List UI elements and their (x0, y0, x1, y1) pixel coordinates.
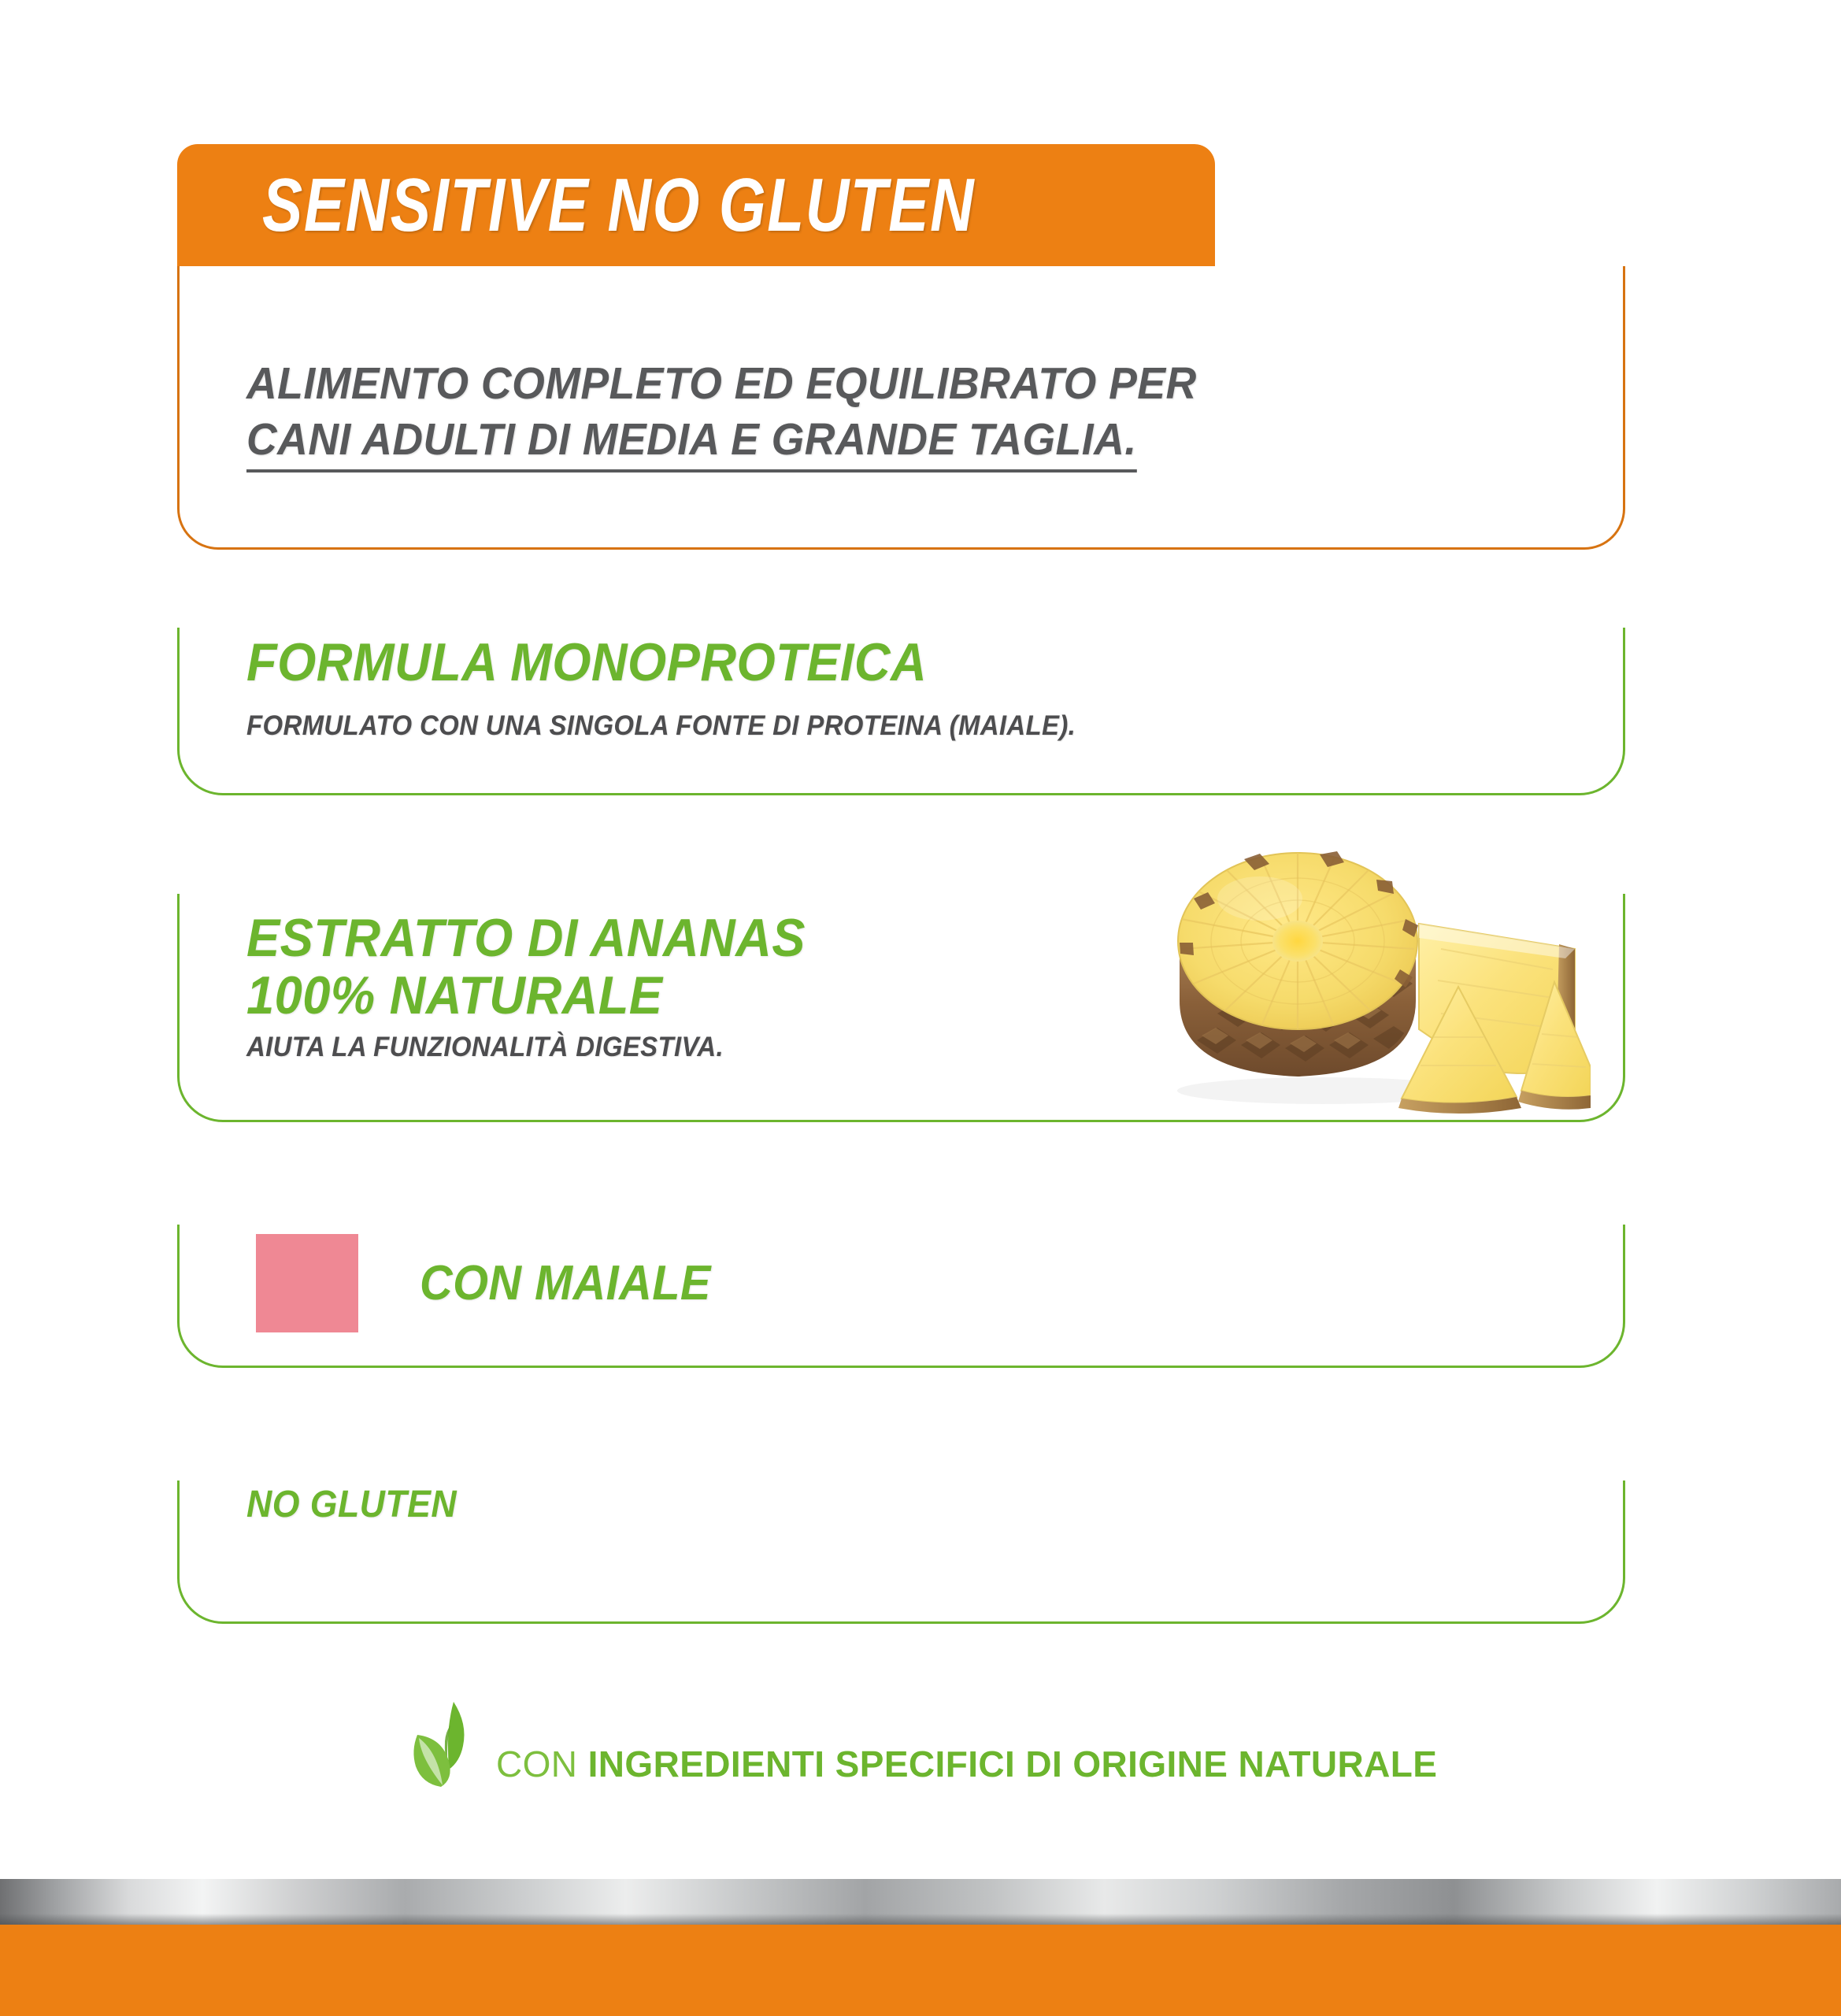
infographic-page: SENSITIVE NO GLUTEN ALIMENTO COMPLETO ED… (0, 0, 1841, 2016)
leaf-icon (409, 1697, 485, 1788)
page-title: SENSITIVE NO GLUTEN (262, 162, 975, 249)
natural-emphasis: INGREDIENTI SPECIFICI DI ORIGINE NATURAL… (588, 1744, 1438, 1784)
feature-heading-no-gluten: NO GLUTEN (246, 1484, 457, 1525)
natural-ingredients-text: CON INGREDIENTI SPECIFICI DI ORIGINE NAT… (496, 1743, 1437, 1788)
feature-heading-ananas: ESTRATTO DI ANANAS 100% NATURALE (246, 910, 806, 1025)
intro-text: ALIMENTO COMPLETO ED EQUILIBRATO PER CAN… (246, 356, 1197, 472)
pineapple-photo (1165, 831, 1591, 1114)
natural-ingredients-row: CON INGREDIENTI SPECIFICI DI ORIGINE NAT… (409, 1697, 1437, 1788)
natural-prefix: CON (496, 1744, 588, 1784)
feature-subtext-monoproteica: FORMULATO CON UNA SINGOLA FONTE DI PROTE… (246, 710, 1076, 742)
feature-heading-ananas-line-1: ESTRATTO DI ANANAS (246, 910, 806, 967)
header-banner: SENSITIVE NO GLUTEN (177, 144, 1215, 266)
bottom-orange-bar (0, 1925, 1841, 2016)
meat-swatch-icon (256, 1234, 358, 1332)
feature-heading-monoproteica: FORMULA MONOPROTEICA (246, 634, 927, 691)
pineapple-cut-face (1178, 851, 1418, 1029)
intro-line-2: CANI ADULTI DI MEDIA E GRANDE TAGLIA. (246, 412, 1137, 473)
feature-heading-maiale: CON MAIALE (420, 1258, 711, 1310)
feature-subtext-ananas: AIUTA LA FUNZIONALITÀ DIGESTIVA. (246, 1032, 724, 1063)
feature-card-maiale (177, 1225, 1625, 1368)
feature-heading-ananas-line-2: 100% NATURALE (246, 967, 806, 1025)
intro-line-1: ALIMENTO COMPLETO ED EQUILIBRATO PER (246, 356, 1197, 412)
silver-divider-bar (0, 1879, 1841, 1925)
